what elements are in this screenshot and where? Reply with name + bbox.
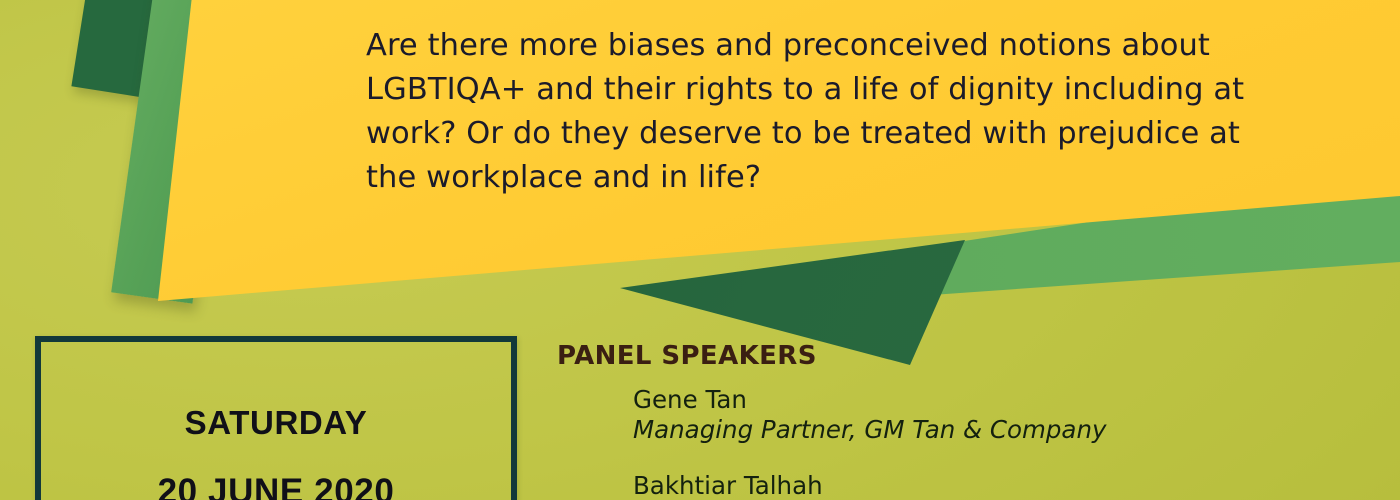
panel-speakers-heading: PANEL SPEAKERS [557,341,1357,371]
speaker-entry: Bakhtiar Talhah [633,471,1357,500]
panel-speakers-section: PANEL SPEAKERS Gene Tan Managing Partner… [557,341,1357,500]
event-date-box: SATURDAY 20 JUNE 2020 [35,336,517,500]
question-text: Are there more biases and preconceived n… [366,24,1366,200]
decorative-green-strip [111,0,251,304]
speaker-name: Gene Tan [633,385,1357,415]
speaker-name: Bakhtiar Talhah [633,471,1357,500]
event-date-label: 20 JUNE 2020 [41,472,511,500]
question-line-3: work? Or do they deserve to be treated w… [366,112,1366,156]
question-line-2: LGBTIQA+ and their rights to a life of d… [366,68,1366,112]
question-line-1: Are there more biases and preconceived n… [366,24,1366,68]
decorative-dark-green-rectangle [71,0,208,104]
event-poster: Are there more biases and preconceived n… [0,0,1400,500]
event-day-label: SATURDAY [41,404,511,442]
speaker-entry: Gene Tan Managing Partner, GM Tan & Comp… [633,385,1357,445]
speaker-title: Managing Partner, GM Tan & Company [633,415,1357,445]
question-line-4: the workplace and in life? [366,156,1366,200]
